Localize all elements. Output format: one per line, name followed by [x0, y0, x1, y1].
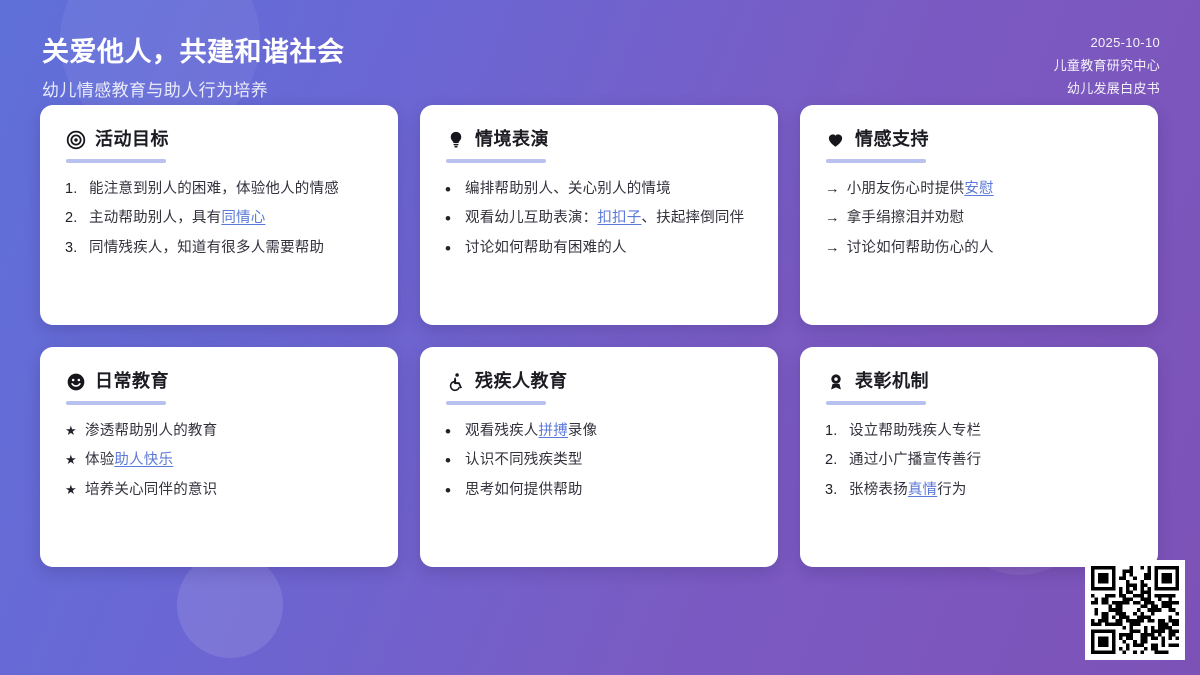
list-item: •观看幼儿互助表演：扣扣子、扶起摔倒同伴 [445, 207, 753, 231]
card-list: ★渗透帮助别人的教育★体验助人快乐★培养关心同伴的意识 [65, 420, 373, 502]
slide-header: 关爱他人，共建和谐社会 幼儿情感教育与助人行为培养 2025-10-10 儿童教… [0, 0, 1200, 105]
item-text-pre: 小朋友伤心时提供 [847, 181, 965, 197]
page-subtitle: 幼儿情感教育与助人行为培养 [42, 76, 345, 101]
title-underline [66, 159, 166, 163]
card-title: 表彰机制 [855, 371, 929, 393]
meta-organization: 儿童教育研究中心 [1054, 57, 1160, 76]
item-text-pre: 渗透帮助别人的教育 [85, 423, 217, 439]
list-item-text: 认识不同残疾类型 [465, 449, 753, 472]
inline-link[interactable]: 同情心 [221, 210, 265, 226]
qr-code[interactable] [1085, 560, 1185, 660]
list-marker: 1. [825, 420, 842, 443]
card-title: 日常教育 [95, 371, 169, 393]
title-underline [446, 401, 546, 405]
list-item-text: 设立帮助残疾人专栏 [849, 420, 1133, 443]
page-title: 关爱他人，共建和谐社会 [42, 34, 345, 70]
list-item-text: 张榜表扬真情行为 [849, 479, 1133, 502]
target-icon [65, 129, 86, 150]
list-marker: 2. [65, 207, 82, 230]
card-award: 表彰机制1.设立帮助残疾人专栏2.通过小广播宣传善行3.张榜表扬真情行为 [800, 347, 1158, 567]
inline-link[interactable]: 扣扣子 [597, 210, 641, 226]
inline-link[interactable]: 真情 [908, 482, 937, 498]
list-item: →讨论如何帮助伤心的人 [825, 237, 1133, 260]
title-underline [826, 401, 926, 405]
list-item-text: 讨论如何帮助有困难的人 [465, 237, 753, 260]
inline-link[interactable]: 拼搏 [539, 423, 568, 439]
item-text-pre: 能注意到别人的困难，体验他人的情感 [89, 181, 339, 197]
list-item: 1.设立帮助残疾人专栏 [825, 420, 1133, 443]
item-text-pre: 设立帮助残疾人专栏 [849, 423, 981, 439]
item-text-post: 、扶起摔倒同伴 [641, 210, 744, 226]
list-item: ★体验助人快乐 [65, 449, 373, 472]
list-item-text: 体验助人快乐 [85, 449, 373, 472]
card-title: 情感支持 [855, 129, 929, 151]
list-item-text: 思考如何提供帮助 [465, 479, 753, 502]
item-text-post: 行为 [937, 482, 966, 498]
list-item: 1.能注意到别人的困难，体验他人的情感 [65, 178, 373, 201]
list-item-text: 渗透帮助别人的教育 [85, 420, 373, 443]
item-text-pre: 主动帮助别人，具有 [89, 210, 221, 226]
list-item-text: 观看残疾人拼搏录像 [465, 420, 753, 443]
card-list: 1.设立帮助残疾人专栏2.通过小广播宣传善行3.张榜表扬真情行为 [825, 420, 1133, 502]
item-text-pre: 体验 [85, 452, 114, 468]
card-heart: 情感支持→小朋友伤心时提供安慰→拿手绢擦泪并劝慰→讨论如何帮助伤心的人 [800, 105, 1158, 325]
list-marker: ★ [65, 449, 78, 472]
list-marker: → [825, 207, 840, 230]
meta-document: 幼儿发展白皮书 [1067, 80, 1160, 99]
item-text-pre: 同情残疾人，知道有很多人需要帮助 [89, 240, 324, 256]
list-item-text: 通过小广播宣传善行 [849, 449, 1133, 472]
list-marker: • [445, 237, 458, 261]
card-lightbulb: 情境表演•编排帮助别人、关心别人的情境•观看幼儿互助表演：扣扣子、扶起摔倒同伴•… [420, 105, 778, 325]
item-text-pre: 讨论如何帮助伤心的人 [847, 240, 994, 256]
list-marker: 1. [65, 178, 82, 201]
item-text-pre: 观看幼儿互助表演： [465, 210, 597, 226]
list-item: 3.张榜表扬真情行为 [825, 479, 1133, 502]
card-header: 活动目标 [65, 129, 373, 151]
list-item-text: 小朋友伤心时提供安慰 [847, 178, 1133, 201]
list-marker: 3. [65, 237, 82, 260]
meta-date: 2025-10-10 [1091, 34, 1161, 53]
list-item: 3.同情残疾人，知道有很多人需要帮助 [65, 237, 373, 260]
list-item: •认识不同残疾类型 [445, 449, 753, 473]
item-text-pre: 培养关心同伴的意识 [85, 482, 217, 498]
inline-link[interactable]: 安慰 [964, 181, 993, 197]
item-text-post: 录像 [568, 423, 597, 439]
list-item: 2.通过小广播宣传善行 [825, 449, 1133, 472]
award-icon [825, 371, 846, 392]
list-item-text: 讨论如何帮助伤心的人 [847, 237, 1133, 260]
inline-link[interactable]: 助人快乐 [114, 452, 173, 468]
list-marker: ★ [65, 479, 78, 502]
card-wheelchair: 残疾人教育•观看残疾人拼搏录像•认识不同残疾类型•思考如何提供帮助 [420, 347, 778, 567]
list-item-text: 主动帮助别人，具有同情心 [89, 207, 373, 230]
title-underline [66, 401, 166, 405]
card-header: 情境表演 [445, 129, 753, 151]
item-text-pre: 拿手绢擦泪并劝慰 [847, 210, 965, 226]
card-smiley: 日常教育★渗透帮助别人的教育★体验助人快乐★培养关心同伴的意识 [40, 347, 398, 567]
list-item-text: 能注意到别人的困难，体验他人的情感 [89, 178, 373, 201]
list-item-text: 编排帮助别人、关心别人的情境 [465, 178, 753, 201]
list-item: →小朋友伤心时提供安慰 [825, 178, 1133, 201]
decorative-circle-bottom [177, 552, 283, 658]
list-item-text: 同情残疾人，知道有很多人需要帮助 [89, 237, 373, 260]
smiley-icon [65, 371, 86, 392]
list-marker: ★ [65, 420, 78, 443]
header-meta: 2025-10-10 儿童教育研究中心 幼儿发展白皮书 [1054, 34, 1160, 99]
card-list: 1.能注意到别人的困难，体验他人的情感2.主动帮助别人，具有同情心3.同情残疾人… [65, 178, 373, 260]
lightbulb-icon [445, 129, 466, 150]
card-header: 情感支持 [825, 129, 1133, 151]
list-item: •编排帮助别人、关心别人的情境 [445, 178, 753, 202]
header-left: 关爱他人，共建和谐社会 幼儿情感教育与助人行为培养 [42, 34, 345, 101]
heart-icon [825, 129, 846, 150]
list-marker: • [445, 449, 458, 473]
card-grid: 活动目标1.能注意到别人的困难，体验他人的情感2.主动帮助别人，具有同情心3.同… [40, 105, 1160, 567]
item-text-pre: 张榜表扬 [849, 482, 908, 498]
item-text-pre: 通过小广播宣传善行 [849, 452, 981, 468]
wheelchair-icon [445, 371, 466, 392]
list-marker: • [445, 479, 458, 503]
list-item: •思考如何提供帮助 [445, 479, 753, 503]
card-title: 活动目标 [95, 129, 169, 151]
list-item: ★渗透帮助别人的教育 [65, 420, 373, 443]
card-title: 情境表演 [475, 129, 549, 151]
card-list: •编排帮助别人、关心别人的情境•观看幼儿互助表演：扣扣子、扶起摔倒同伴•讨论如何… [445, 178, 753, 261]
item-text-pre: 编排帮助别人、关心别人的情境 [465, 181, 671, 197]
list-item: →拿手绢擦泪并劝慰 [825, 207, 1133, 230]
qr-matrix [1091, 566, 1179, 654]
card-header: 日常教育 [65, 371, 373, 393]
card-header: 残疾人教育 [445, 371, 753, 393]
item-text-pre: 观看残疾人 [465, 423, 539, 439]
list-item-text: 观看幼儿互助表演：扣扣子、扶起摔倒同伴 [465, 207, 753, 230]
list-marker: → [825, 237, 840, 260]
item-text-pre: 思考如何提供帮助 [465, 482, 583, 498]
card-target: 活动目标1.能注意到别人的困难，体验他人的情感2.主动帮助别人，具有同情心3.同… [40, 105, 398, 325]
list-marker: • [445, 420, 458, 444]
list-marker: • [445, 207, 458, 231]
list-item: •讨论如何帮助有困难的人 [445, 237, 753, 261]
list-item: 2.主动帮助别人，具有同情心 [65, 207, 373, 230]
list-item: ★培养关心同伴的意识 [65, 479, 373, 502]
item-text-pre: 讨论如何帮助有困难的人 [465, 240, 627, 256]
list-marker: 2. [825, 449, 842, 472]
title-underline [826, 159, 926, 163]
list-item-text: 培养关心同伴的意识 [85, 479, 373, 502]
list-item: •观看残疾人拼搏录像 [445, 420, 753, 444]
title-underline [446, 159, 546, 163]
list-marker: • [445, 178, 458, 202]
card-list: •观看残疾人拼搏录像•认识不同残疾类型•思考如何提供帮助 [445, 420, 753, 503]
list-marker: → [825, 178, 840, 201]
item-text-pre: 认识不同残疾类型 [465, 452, 583, 468]
list-marker: 3. [825, 479, 842, 502]
card-header: 表彰机制 [825, 371, 1133, 393]
card-title: 残疾人教育 [475, 371, 568, 393]
card-list: →小朋友伤心时提供安慰→拿手绢擦泪并劝慰→讨论如何帮助伤心的人 [825, 178, 1133, 260]
list-item-text: 拿手绢擦泪并劝慰 [847, 207, 1133, 230]
